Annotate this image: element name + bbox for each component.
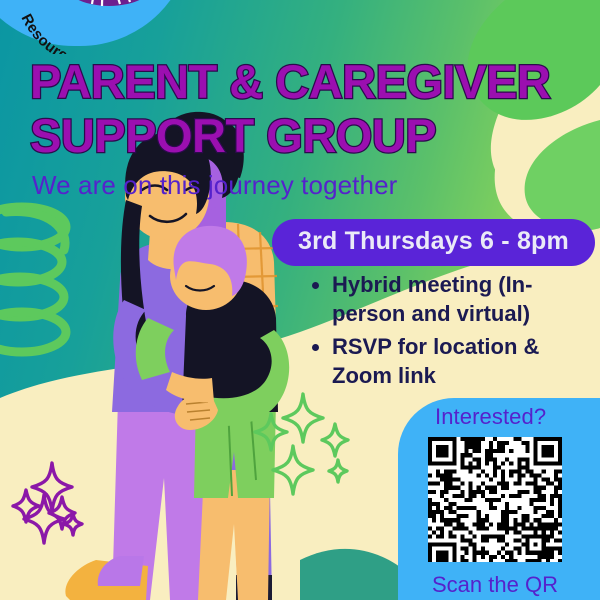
meeting-time-badge: 3rd Thursdays 6 - 8pm xyxy=(272,219,595,266)
logo-text-label: Resource Center xyxy=(18,11,128,54)
poster-canvas: Resource Center PARENT & CAREGIVER SUPPO… xyxy=(0,0,600,600)
list-item: RSVP for location & Zoom link xyxy=(332,332,580,390)
qr-code-svg xyxy=(428,437,562,562)
logo-text: Resource Center xyxy=(12,0,192,54)
qr-heading: Interested? xyxy=(435,404,546,430)
qr-code-icon[interactable] xyxy=(428,437,562,562)
headline-line-2: SUPPORT GROUP xyxy=(30,109,590,163)
headline-line-1: PARENT & CAREGIVER xyxy=(30,55,590,109)
details-list: Hybrid meeting (In-person and virtual) R… xyxy=(310,270,580,394)
list-item: Hybrid meeting (In-person and virtual) xyxy=(332,270,580,328)
qr-caption: Scan the QR xyxy=(432,572,558,598)
page-title: PARENT & CAREGIVER SUPPORT GROUP xyxy=(30,55,590,163)
subtitle: We are on this journey together xyxy=(32,170,397,201)
